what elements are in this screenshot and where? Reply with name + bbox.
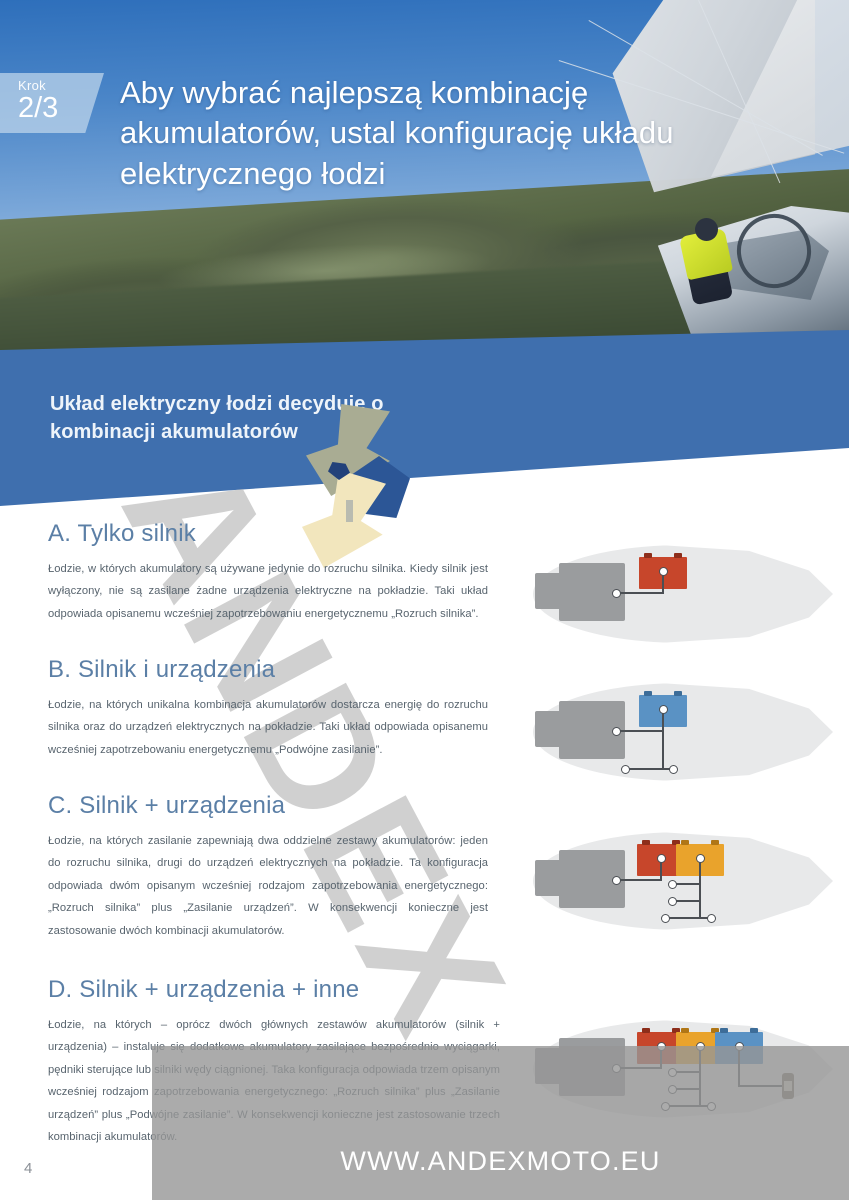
- step-label: Krok: [18, 79, 104, 92]
- page-number: 4: [24, 1160, 32, 1177]
- page-title: Aby wybrać najlepszą kombinację akumulat…: [120, 73, 760, 194]
- diagram-b-wire-devices: [625, 768, 673, 770]
- diagram-a: [533, 545, 833, 645]
- diagram-c-node-battery-red: [657, 854, 666, 863]
- diagram-c-wire-red: [660, 860, 662, 881]
- diagram-b-shaft: [535, 711, 563, 747]
- section-b-text: B. Silnik i urządzenia Łodzie, na któryc…: [48, 656, 488, 761]
- logo-shape-bar: [346, 500, 353, 522]
- sailor-head: [695, 218, 718, 241]
- battery-terminal: [642, 840, 650, 845]
- footer-website-url[interactable]: WWW.ANDEXMOTO.EU: [152, 1146, 849, 1177]
- section-c-text: C. Silnik + urządzenia Łodzie, na któryc…: [48, 792, 488, 942]
- battery-terminal: [711, 840, 719, 845]
- diagram-a-node-engine: [612, 589, 621, 598]
- battery-terminal: [681, 1028, 689, 1033]
- battery-terminal: [644, 691, 652, 696]
- diagram-c-node-engine: [612, 876, 621, 885]
- diagram-c-node-battery-orange: [696, 854, 705, 863]
- battery-terminal: [681, 840, 689, 845]
- diagram-c-node-device-1: [668, 880, 677, 889]
- diagram-b-node-device-2: [669, 765, 678, 774]
- battery-terminal: [674, 553, 682, 558]
- battery-terminal: [750, 1028, 758, 1033]
- diagram-b-node-device-1: [621, 765, 630, 774]
- diagram-a-node-battery: [659, 567, 668, 576]
- battery-terminal: [644, 553, 652, 558]
- battery-terminal: [642, 1028, 650, 1033]
- diagram-c-wire-orange: [699, 860, 701, 918]
- diagram-c-node-device-2: [668, 897, 677, 906]
- diagram-b-node-engine: [612, 727, 621, 736]
- diagram-a-wire-vertical: [662, 573, 664, 594]
- section-c-body: Łodzie, na których zasilanie zapewniają …: [48, 830, 488, 942]
- diagram-c-node-device-4: [707, 914, 716, 923]
- battery-terminal: [720, 1028, 728, 1033]
- section-b-body: Łodzie, na których unikalna kombinacja a…: [48, 694, 488, 761]
- battery-terminal: [674, 691, 682, 696]
- section-d-heading: D. Silnik + urządzenia + inne: [48, 976, 500, 1004]
- diagram-a-shaft: [535, 573, 563, 609]
- section-c-heading: C. Silnik + urządzenia: [48, 792, 488, 820]
- section-a-body: Łodzie, w których akumulatory są używane…: [48, 558, 488, 625]
- diagram-a-wire-horizontal: [616, 592, 664, 594]
- section-a-heading: A. Tylko silnik: [48, 520, 488, 548]
- diagram-b-node-battery: [659, 705, 668, 714]
- section-b-heading: B. Silnik i urządzenia: [48, 656, 488, 684]
- section-a-text: A. Tylko silnik Łodzie, w których akumul…: [48, 520, 488, 625]
- diagram-b: [533, 683, 833, 793]
- diagram-c-shaft: [535, 860, 563, 896]
- diagram-c-node-device-3: [661, 914, 670, 923]
- diagram-c-wire-dev3: [665, 917, 710, 919]
- diagram-c-wire-engine: [616, 879, 662, 881]
- diagram-b-wire-main: [662, 711, 664, 769]
- diagram-b-wire-engine: [616, 730, 664, 732]
- diagram-c: [533, 832, 833, 952]
